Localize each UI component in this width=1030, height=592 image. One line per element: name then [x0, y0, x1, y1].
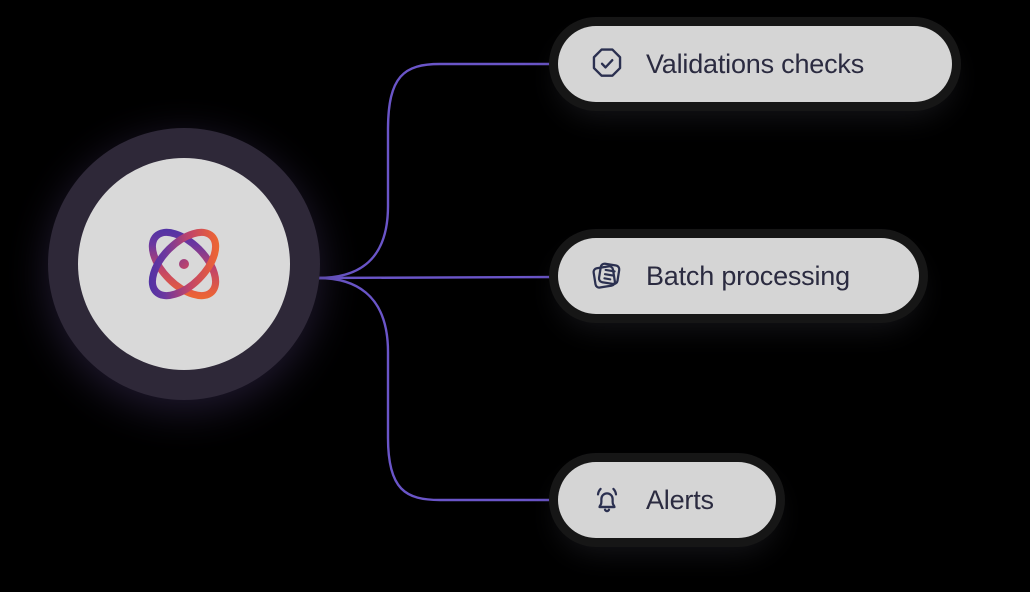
branch-label: Alerts [646, 485, 714, 516]
central-hub-node[interactable] [48, 128, 320, 400]
stacked-documents-icon [588, 257, 626, 295]
bell-ringing-icon [588, 481, 626, 519]
diagram-canvas: Validations checks Batch processing Aler… [0, 0, 1030, 592]
octagon-check-icon [588, 45, 626, 83]
branch-pill-alerts[interactable]: Alerts [558, 462, 776, 538]
connector-to-batch [318, 277, 560, 278]
connector-to-validations [318, 64, 560, 278]
branch-label: Batch processing [646, 261, 850, 292]
branch-label: Validations checks [646, 49, 864, 80]
connector-to-alerts [318, 278, 560, 500]
hub-inner-circle [78, 158, 290, 370]
branch-pill-batch[interactable]: Batch processing [558, 238, 919, 314]
branch-pill-validations[interactable]: Validations checks [558, 26, 952, 102]
atom-orbit-icon [136, 216, 232, 312]
